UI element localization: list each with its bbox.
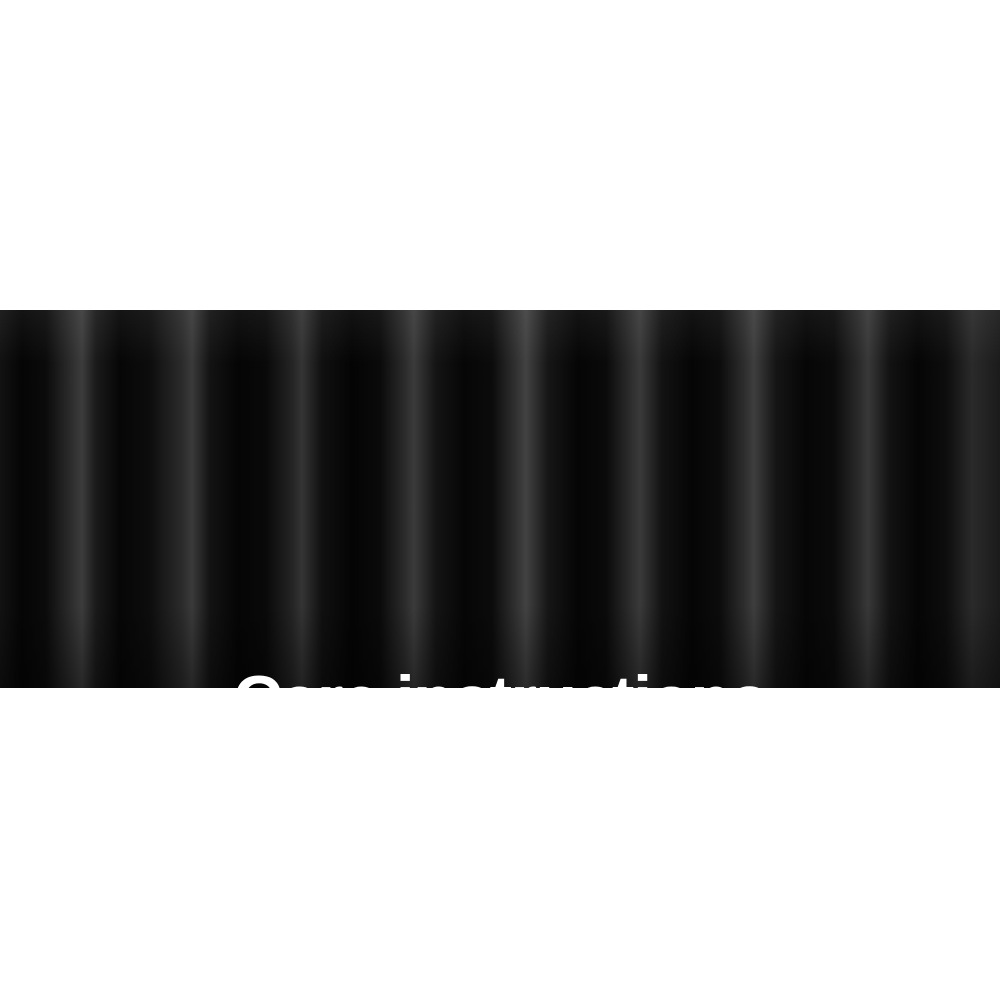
page-title: Care instructions <box>0 666 1000 688</box>
banner-content: Care instructions Machine washable cold <box>0 310 1000 688</box>
care-instructions-page: Care instructions Machine washable cold <box>0 0 1000 1000</box>
care-instructions-banner: Care instructions Machine washable cold <box>0 310 1000 688</box>
